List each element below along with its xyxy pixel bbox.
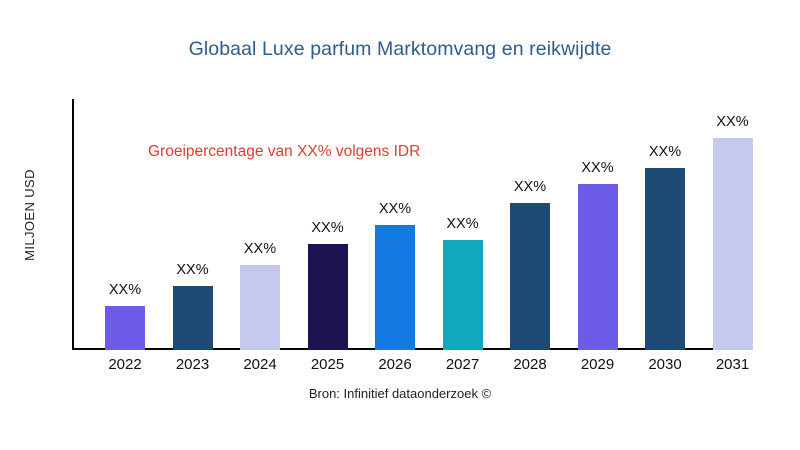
x-tick-label-2031: 2031 [699,356,767,373]
bar-2025[interactable] [308,244,348,350]
x-tick-label-2025: 2025 [294,356,362,373]
bar-2029[interactable] [578,184,618,350]
x-tick-label-2026: 2026 [361,356,429,373]
x-tick-label-2023: 2023 [159,356,227,373]
bar-2027[interactable] [443,240,483,350]
bar-value-label-2023: XX% [159,262,227,278]
bar-2022[interactable] [105,306,145,350]
x-tick-label-2030: 2030 [631,356,699,373]
bar-2024[interactable] [240,265,280,350]
bar-value-label-2027: XX% [429,216,497,232]
bar-value-label-2025: XX% [294,220,362,236]
bar-value-label-2030: XX% [631,144,699,160]
bar-value-label-2029: XX% [564,160,632,176]
x-tick-label-2028: 2028 [496,356,564,373]
bar-2030[interactable] [645,168,685,350]
x-tick-label-2022: 2022 [91,356,159,373]
x-tick-label-2029: 2029 [564,356,632,373]
bar-2026[interactable] [375,225,415,350]
bar-2028[interactable] [510,203,550,350]
x-tick-label-2027: 2027 [429,356,497,373]
x-tick-label-2024: 2024 [226,356,294,373]
bar-value-label-2024: XX% [226,241,294,257]
source-caption: Bron: Infinitief dataonderzoek © [0,386,800,401]
plot-area: XX%2022XX%2023XX%2024XX%2025XX%2026XX%20… [0,0,800,450]
growth-annotation: Groeipercentage van XX% volgens IDR [148,143,420,161]
bar-value-label-2026: XX% [361,201,429,217]
bar-value-label-2022: XX% [91,282,159,298]
bar-2023[interactable] [173,286,213,350]
bar-chart: Globaal Luxe parfum Marktomvang en reikw… [0,0,800,450]
bar-2031[interactable] [713,138,753,350]
bar-value-label-2028: XX% [496,179,564,195]
bar-value-label-2031: XX% [699,114,767,130]
